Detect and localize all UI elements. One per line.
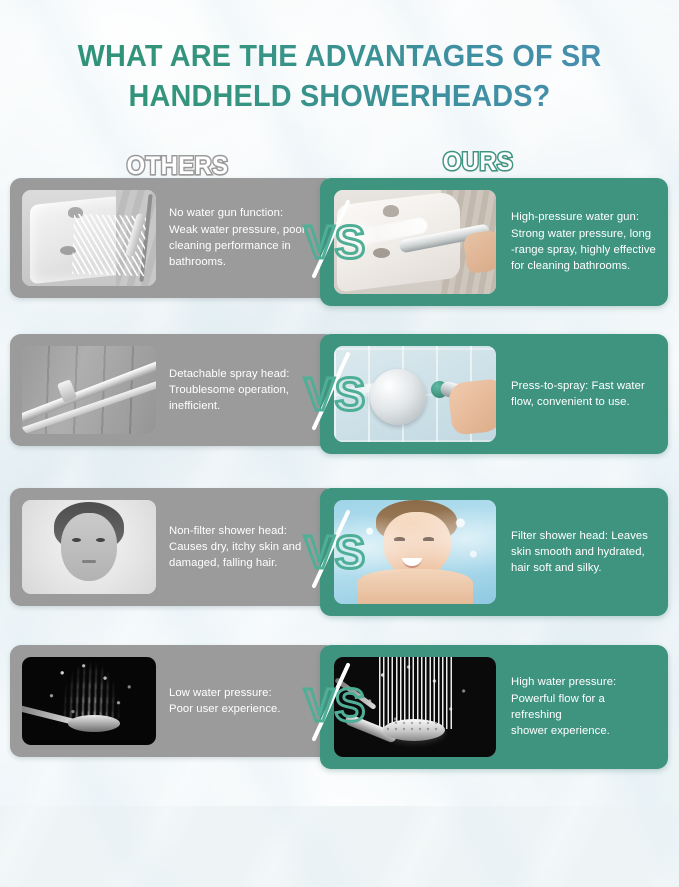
ours-text-2: Press-to-spray: Fast water flow, conveni… xyxy=(496,378,645,411)
ours-text-1: High-pressure water gun: Strong water pr… xyxy=(496,209,656,274)
low-pressure-showerhead-photo xyxy=(22,657,156,745)
fresh-skin-splash-face-photo xyxy=(334,500,496,604)
page-title: WHAT ARE THE ADVANTAGES OF SR HANDHELD S… xyxy=(24,36,655,117)
ours-text-3: Filter shower head: Leaves skin smooth a… xyxy=(496,528,648,577)
others-text-3: Non-filter shower head: Causes dry, itch… xyxy=(156,523,301,572)
bathtub-weak-spray-photo xyxy=(22,190,156,286)
ours-text-4: High water pressure: Powerful flow for a… xyxy=(496,674,656,739)
ours-card-2: Press-to-spray: Fast water flow, conveni… xyxy=(320,334,668,454)
others-card-2: Detachable spray head: Troublesome opera… xyxy=(10,334,336,446)
others-card-1: No water gun function: Weak water pressu… xyxy=(10,178,336,298)
column-header-others: OTHERS xyxy=(127,152,229,181)
ours-card-1: High-pressure water gun: Strong water pr… xyxy=(320,178,668,306)
dull-skin-face-photo xyxy=(22,500,156,594)
press-to-spray-head-in-hand-photo xyxy=(334,346,496,442)
ours-card-4: High water pressure: Powerful flow for a… xyxy=(320,645,668,769)
others-card-4: Low water pressure: Poor user experience… xyxy=(10,645,336,757)
others-text-1: No water gun function: Weak water pressu… xyxy=(156,205,306,270)
infographic-page: WHAT ARE THE ADVANTAGES OF SR HANDHELD S… xyxy=(0,0,679,806)
others-text-2: Detachable spray head: Troublesome opera… xyxy=(156,366,289,415)
others-text-4: Low water pressure: Poor user experience… xyxy=(156,685,281,718)
high-pressure-showerhead-photo xyxy=(334,657,496,757)
bathtub-high-pressure-jet-photo xyxy=(334,190,496,294)
others-card-3: Non-filter shower head: Causes dry, itch… xyxy=(10,488,336,606)
wall-mounted-slide-bar-photo xyxy=(22,346,156,434)
ours-card-3: Filter shower head: Leaves skin smooth a… xyxy=(320,488,668,616)
column-header-ours: OURS xyxy=(443,148,514,177)
